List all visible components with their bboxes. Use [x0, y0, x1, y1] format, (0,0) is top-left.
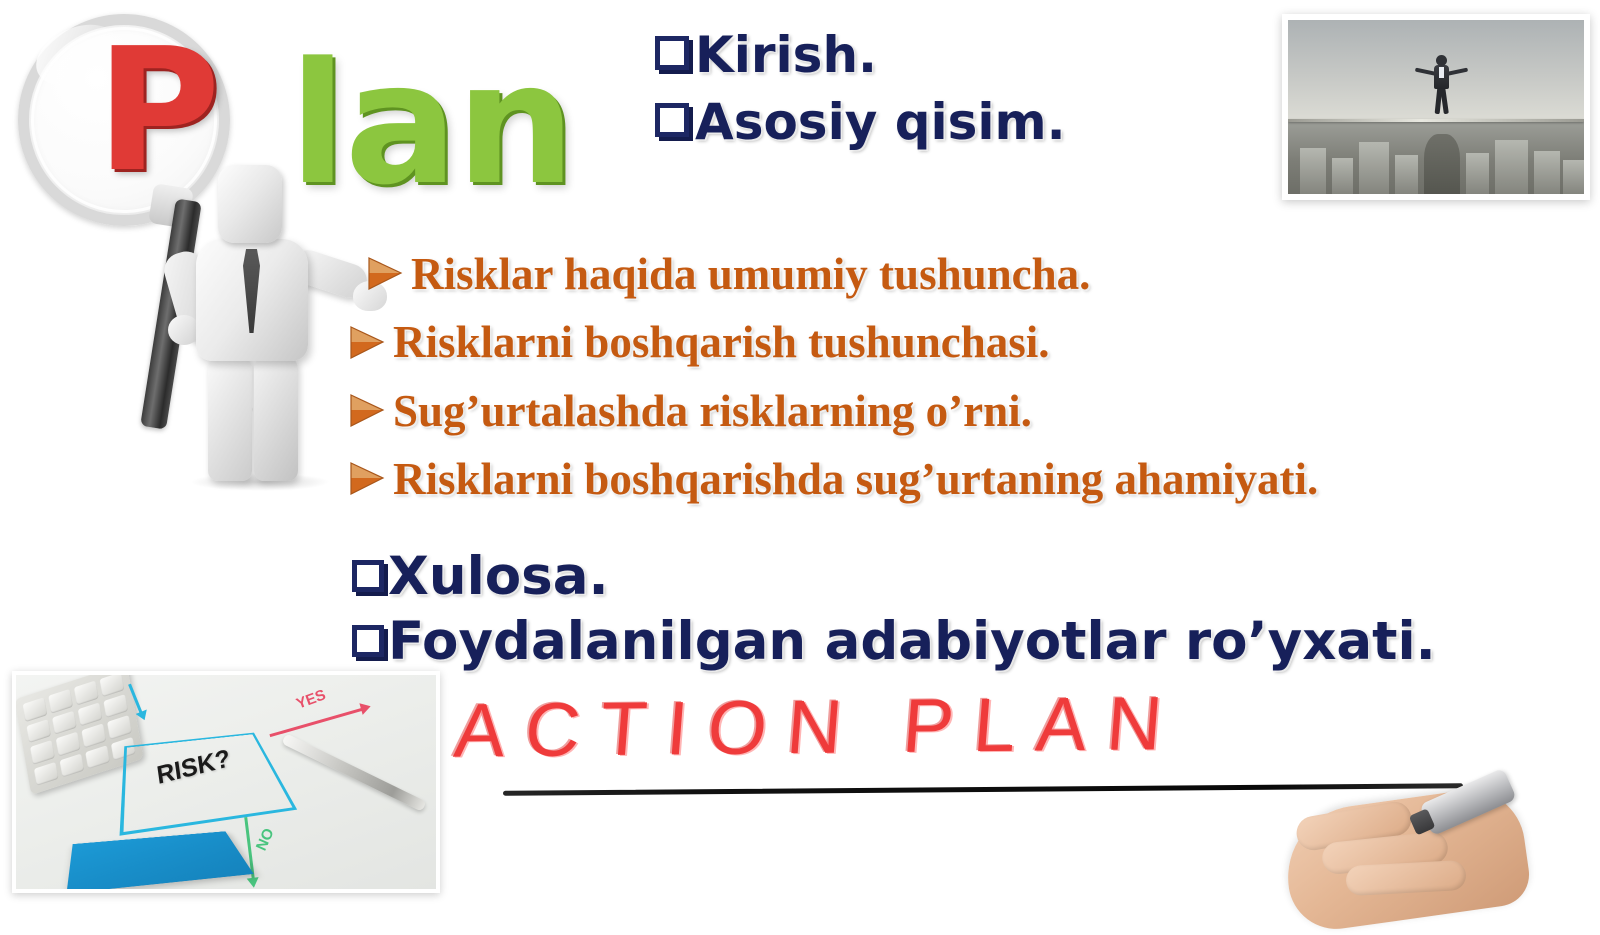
outline-item-label: Kirish. — [695, 22, 877, 89]
mannequin-left-leg — [208, 355, 252, 481]
yes-branch-label: YES — [294, 686, 328, 712]
risk-photo-inner: RISK? YES NO — [16, 675, 436, 889]
arrow-bullet-icon — [363, 252, 407, 296]
sub-outline-list: Risklar haqida umumiy tushuncha. Risklar… — [345, 240, 1600, 514]
sub-item-risklar-umumiy[interactable]: Risklar haqida umumiy tushuncha. — [345, 240, 1600, 308]
outline-item-foydalanilgan-adabiyotlar[interactable]: Foydalanilgan adabiyotlar ro’yxati. — [352, 610, 1532, 675]
sub-item-label: Risklarni boshqarish tushunchasi. — [393, 308, 1050, 376]
mannequin-head — [218, 165, 282, 243]
arrow-bullet-icon — [345, 389, 389, 433]
square-bullet-icon — [655, 36, 689, 70]
sub-item-risklarni-boshqarish[interactable]: Risklarni boshqarish tushunchasi. — [345, 308, 1600, 376]
square-bullet-icon — [352, 560, 384, 592]
no-branch-label: NO — [253, 826, 278, 853]
sub-item-label: Risklar haqida umumiy tushuncha. — [411, 240, 1090, 308]
calculator-keys — [22, 675, 135, 786]
outline-item-label: Xulosa. — [388, 545, 609, 610]
square-bullet-icon — [655, 103, 689, 137]
square-bullet-icon — [352, 625, 384, 657]
top-outline-list: Kirish. Asosiy qisim. — [655, 22, 1375, 156]
hand-holding-marker — [1260, 755, 1560, 905]
blue-folder-object — [67, 831, 254, 889]
sub-item-sugurtalashda[interactable]: Sug’urtalashda risklarning o’rni. — [345, 377, 1600, 445]
outline-item-label: Foydalanilgan adabiyotlar ro’yxati. — [388, 610, 1436, 675]
arrow-bullet-icon — [345, 457, 389, 501]
photo-businessman-balancing — [1424, 55, 1458, 115]
outline-item-label: Asosiy qisim. — [695, 89, 1066, 156]
presentation-slide: P lan — [0, 0, 1600, 899]
sub-item-label: Risklarni boshqarishda sug’urtaning aham… — [393, 445, 1318, 513]
sub-item-sugurtaning-ahamiyati[interactable]: Risklarni boshqarishda sug’urtaning aham… — [345, 445, 1600, 513]
outline-item-xulosa[interactable]: Xulosa. — [352, 545, 1532, 610]
outline-item-kirish[interactable]: Kirish. — [655, 22, 1375, 89]
sub-item-label: Sug’urtalashda risklarning o’rni. — [393, 377, 1032, 445]
bottom-outline-list: Xulosa. Foydalanilgan adabiyotlar ro’yxa… — [352, 545, 1532, 674]
risk-flowchart-photo: RISK? YES NO — [12, 671, 440, 893]
outline-item-asosiy-qisim[interactable]: Asosiy qisim. — [655, 89, 1375, 156]
pen-object — [281, 733, 426, 811]
hand-finger — [1345, 860, 1466, 896]
arrow-bullet-icon — [345, 321, 389, 365]
yes-branch-arrow — [269, 708, 362, 737]
mannequin-right-leg — [254, 355, 298, 481]
